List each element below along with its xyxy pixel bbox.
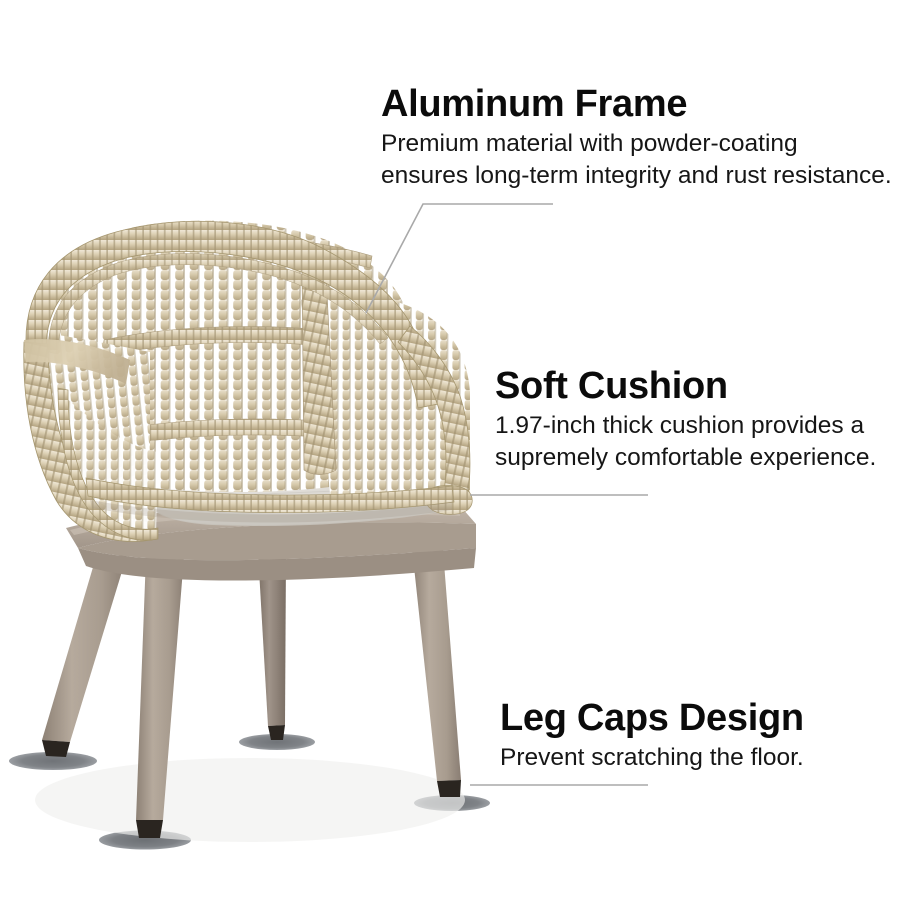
callout-body-soft-cushion: 1.97-inch thick cushion provides a supre… — [495, 410, 876, 473]
leg-cap-front-right — [437, 780, 461, 797]
callout-soft-cushion: Soft Cushion 1.97-inch thick cushion pro… — [495, 366, 876, 473]
leg-cap-back-right — [268, 725, 285, 740]
ambient-floor-shade — [35, 758, 465, 842]
callout-body-line: Premium material with powder-coating — [381, 128, 892, 160]
callout-body-leg-caps: Prevent scratching the floor. — [500, 742, 804, 774]
callout-body-line: supremely comfortable experience. — [495, 442, 876, 474]
callout-body-line: Prevent scratching the floor. — [500, 742, 804, 774]
leg-cap-back-left — [42, 740, 70, 757]
leg-back-left — [42, 555, 127, 742]
infographic-canvas: Aluminum Frame Premium material with pow… — [0, 0, 900, 900]
callout-aluminum-frame: Aluminum Frame Premium material with pow… — [381, 84, 892, 191]
floor-shadow-group — [9, 734, 490, 850]
callout-title-soft-cushion: Soft Cushion — [495, 366, 876, 406]
callout-title-aluminum-frame: Aluminum Frame — [381, 84, 892, 124]
callout-body-line: 1.97-inch thick cushion provides a — [495, 410, 876, 442]
callout-body-aluminum-frame: Premium material with powder-coating ens… — [381, 128, 892, 191]
leg-cap-front-left — [136, 820, 163, 838]
callout-leg-caps: Leg Caps Design Prevent scratching the f… — [500, 698, 804, 774]
callout-body-line: ensures long-term integrity and rust res… — [381, 160, 892, 192]
leg-front-right — [412, 548, 461, 781]
callout-title-leg-caps: Leg Caps Design — [500, 698, 804, 738]
